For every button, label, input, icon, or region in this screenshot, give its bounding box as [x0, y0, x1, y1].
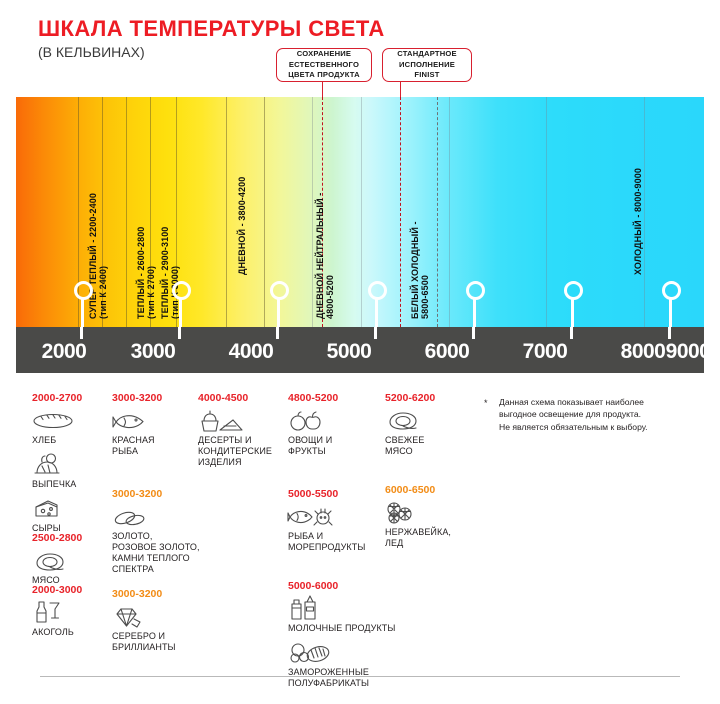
callout-line: СОХРАНЕНИЕ — [288, 49, 360, 59]
dashed-marker-grey — [437, 97, 438, 327]
legend-item-label: СВЕЖЕЕ МЯСО — [385, 435, 503, 457]
frozen-food-icon — [288, 639, 406, 665]
axis-label-6000: 6000 — [425, 340, 470, 364]
axis-tick — [472, 327, 475, 339]
band-divider — [449, 97, 450, 327]
infographic-root: ШКАЛА ТЕМПЕРАТУРЫ СВЕТА (В КЕЛЬВИНАХ) СО… — [0, 0, 720, 704]
callout-natural-color: СОХРАНЕНИЕЕСТЕСТВЕННОГОЦВЕТА ПРОДУКТА — [276, 48, 372, 82]
callout-stem-finist-standard — [400, 82, 401, 97]
band-divider — [264, 97, 265, 327]
diamond-icon — [112, 603, 230, 629]
axis-label-2000: 2000 — [42, 340, 87, 364]
axis-label-3000: 3000 — [131, 340, 176, 364]
band-divider — [644, 97, 645, 327]
legend-range-label: 5000-6000 — [288, 580, 406, 592]
dairy-icon — [288, 595, 406, 621]
axis-label-7000: 7000 — [523, 340, 568, 364]
axis-label-8000: 8000 — [621, 340, 666, 364]
band-label-daylight-neutral: ДНЕВНОЙ НЕЙТРАЛЬНЫЙ -4800-5200 — [315, 193, 335, 319]
legend-range-label: 6000-6500 — [385, 484, 503, 496]
page-title: ШКАЛА ТЕМПЕРАТУРЫ СВЕТА — [38, 16, 385, 42]
legend-item-label: ЗОЛОТО, РОЗОВОЕ ЗОЛОТО, КАМНИ ТЕПЛОГО СП… — [112, 531, 230, 575]
band-label-super-warm: СУПЕР ТЕПЛЫЙ - 2200-2400(тип К 2400) — [88, 193, 108, 319]
band-label-cool-white: БЕЛЫЙ ХОЛОДНЫЙ -5800-6500 — [410, 221, 430, 319]
color-gradient-bar — [16, 97, 704, 327]
axis-tick — [178, 327, 181, 339]
temperature-scale: СУПЕР ТЕПЛЫЙ - 2200-2400(тип К 2400) ТЕП… — [16, 97, 704, 327]
axis-tick — [570, 327, 573, 339]
legend-range-label: 3000-3200 — [112, 488, 230, 500]
legend-item: ЗАМОРОЖЕННЫЕ ПОЛУФАБРИКАТЫ — [288, 639, 406, 689]
legend-group: 3000-3200СЕРЕБРО И БРИЛЛИАНТЫ — [112, 588, 230, 658]
footnote-asterisk: * — [484, 397, 488, 410]
legend-area: 2000-2700ХЛЕБВЫПЕЧКАСЫРЫ2500-2800МЯСО200… — [0, 392, 720, 682]
legend-item: НЕРЖАВЕЙКА, ЛЕД — [385, 499, 503, 549]
axis-tick — [668, 327, 671, 339]
legend-item: ЗОЛОТО, РОЗОВОЕ ЗОЛОТО, КАМНИ ТЕПЛОГО СП… — [112, 503, 230, 575]
band-label-daylight: ДНЕВНОЙ - 3800-4200 — [237, 177, 247, 275]
gold-rings-icon — [112, 503, 230, 529]
callout-finist-standard: СТАНДАРТНОЕИСПОЛНЕНИЕFINIST — [382, 48, 472, 82]
axis-tick — [374, 327, 377, 339]
band-divider — [126, 97, 127, 327]
legend-group: 6000-6500НЕРЖАВЕЙКА, ЛЕД — [385, 484, 503, 554]
kelvin-axis-bar: 2000 3000 4000 5000 6000 7000 8000 9000 — [16, 327, 704, 373]
band-label-warm-2700: ТЕПЛЫЙ - 2600-2800(тип К 2700) — [136, 227, 156, 319]
footnote: * Данная схема показывает наиболее выгод… — [484, 396, 716, 433]
axis-label-5000: 5000 — [327, 340, 372, 364]
page-subtitle: (В КЕЛЬВИНАХ) — [38, 44, 145, 60]
callout-line: ЕСТЕСТВЕННОГО — [288, 60, 360, 70]
callout-line: ИСПОЛНЕНИЕ — [397, 60, 457, 70]
legend-item: МОЛОЧНЫЕ ПРОДУКТЫ — [288, 595, 406, 634]
callout-stem-natural-color — [322, 82, 323, 97]
dashed-marker-finist — [400, 97, 401, 327]
band-divider — [546, 97, 547, 327]
legend-range-label: 3000-3200 — [112, 588, 230, 600]
footnote-text: Данная схема показывает наиболее выгодно… — [499, 396, 716, 433]
legend-item-label: ЗАМОРОЖЕННЫЕ ПОЛУФАБРИКАТЫ — [288, 667, 406, 689]
axis-tick — [276, 327, 279, 339]
callout-line: ЦВЕТА ПРОДУКТА — [288, 70, 360, 80]
axis-label-4000: 4000 — [229, 340, 274, 364]
band-divider — [361, 97, 362, 327]
stainless-ice-icon — [385, 499, 503, 525]
axis-tick — [80, 327, 83, 339]
band-divider — [312, 97, 313, 327]
band-label-warm-3000: ТЕПЛЫЙ - 2900-3100(тип К 3000) — [160, 227, 180, 319]
axis-label-9000: 9000 — [666, 340, 711, 364]
legend-group: 3000-3200ЗОЛОТО, РОЗОВОЕ ЗОЛОТО, КАМНИ Т… — [112, 488, 230, 580]
legend-item-label: НЕРЖАВЕЙКА, ЛЕД — [385, 527, 503, 549]
callout-line: FINIST — [397, 70, 457, 80]
legend-item: СЕРЕБРО И БРИЛЛИАНТЫ — [112, 603, 230, 653]
band-label-cool: ХОЛОДНЫЙ - 8000-9000 — [633, 168, 643, 275]
bottom-divider — [40, 676, 680, 677]
legend-item-label: СЕРЕБРО И БРИЛЛИАНТЫ — [112, 631, 230, 653]
callout-line: СТАНДАРТНОЕ — [397, 49, 457, 59]
legend-item-label: МОЛОЧНЫЕ ПРОДУКТЫ — [288, 623, 406, 634]
band-divider — [226, 97, 227, 327]
